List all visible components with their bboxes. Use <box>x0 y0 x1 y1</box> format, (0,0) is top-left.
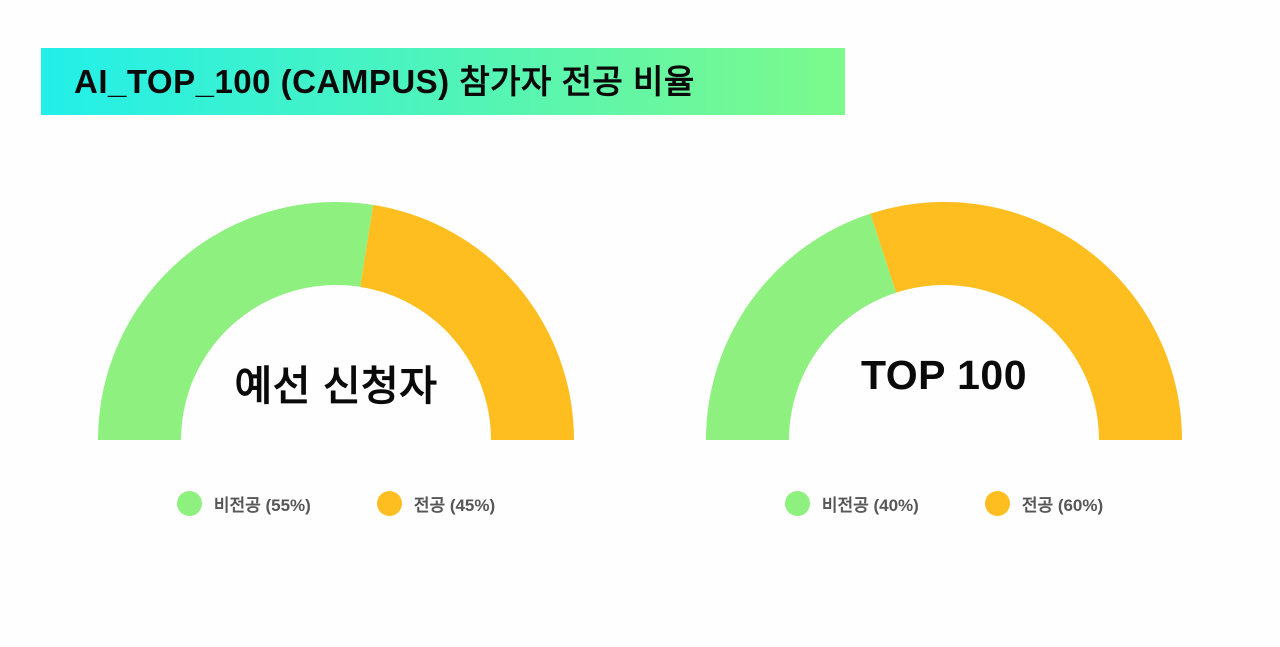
legend-dot-green-icon <box>785 491 810 516</box>
legend-item[interactable]: 비전공 (55%) <box>177 491 311 516</box>
legend-item-label: 비전공 (40%) <box>822 491 919 516</box>
gauge-left-graphic <box>86 185 586 455</box>
legend-item[interactable]: 전공 (45%) <box>377 491 495 516</box>
gauge-center-label-left: 예선 신청자 <box>86 352 586 412</box>
semi-donut-right <box>694 185 1194 455</box>
gauge-panel-top100: TOP 100 비전공 (40%) 전공 (60%) <box>694 185 1194 545</box>
legend-dot-orange-icon <box>985 491 1010 516</box>
gauge-charts-container: 예선 신청자 비전공 (55%) 전공 (45%) TOP 100 비전공 (4… <box>0 185 1280 545</box>
page-title: AI_TOP_100 (CAMPUS) 참가자 전공 비율 <box>74 65 695 98</box>
legend-item-label: 전공 (60%) <box>1022 491 1103 516</box>
legend-dot-orange-icon <box>377 491 402 516</box>
gauge-center-label-right: TOP 100 <box>694 352 1194 399</box>
legend-item-label: 비전공 (55%) <box>214 491 311 516</box>
gauge-segment-non-major <box>706 214 896 440</box>
gauge-right-graphic <box>694 185 1194 455</box>
page-title-banner: AI_TOP_100 (CAMPUS) 참가자 전공 비율 <box>41 48 845 115</box>
legend-item[interactable]: 전공 (60%) <box>985 491 1103 516</box>
legend-dot-green-icon <box>177 491 202 516</box>
gauge-panel-preliminary: 예선 신청자 비전공 (55%) 전공 (45%) <box>86 185 586 545</box>
legend-item-label: 전공 (45%) <box>414 491 495 516</box>
legend-item[interactable]: 비전공 (40%) <box>785 491 919 516</box>
semi-donut-left <box>86 185 586 455</box>
gauge-segment-major <box>870 202 1182 440</box>
legend-left: 비전공 (55%) 전공 (45%) <box>86 491 586 516</box>
legend-right: 비전공 (40%) 전공 (60%) <box>694 491 1194 516</box>
